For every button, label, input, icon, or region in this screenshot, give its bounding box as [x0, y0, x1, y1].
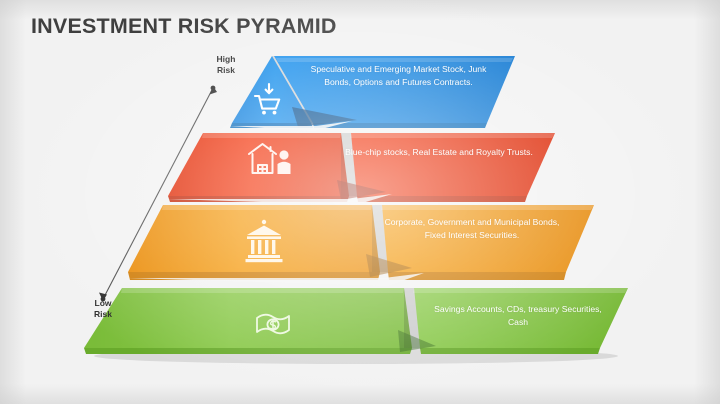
- low-risk-label: Low Risk: [83, 298, 123, 320]
- level-3-description: Corporate, Government and Municipal Bond…: [377, 216, 567, 241]
- level-2-description: Blue-chip stocks, Real Estate and Royalt…: [344, 146, 534, 159]
- infographic-canvas: INVESTMENT RISK PYRAMID: [0, 0, 720, 404]
- level-1-description: Speculative and Emerging Market Stock, J…: [306, 63, 491, 88]
- low-risk-line1: Low: [95, 298, 112, 308]
- pyramid-illustration: [0, 0, 720, 404]
- high-risk-line1: High: [217, 54, 236, 64]
- pyramid-level-2[interactable]: [168, 133, 555, 202]
- high-risk-label: High Risk: [206, 54, 246, 76]
- high-risk-line2: Risk: [217, 65, 235, 75]
- low-risk-line2: Risk: [94, 309, 112, 319]
- level-4-description: Savings Accounts, CDs, treasury Securiti…: [428, 303, 608, 328]
